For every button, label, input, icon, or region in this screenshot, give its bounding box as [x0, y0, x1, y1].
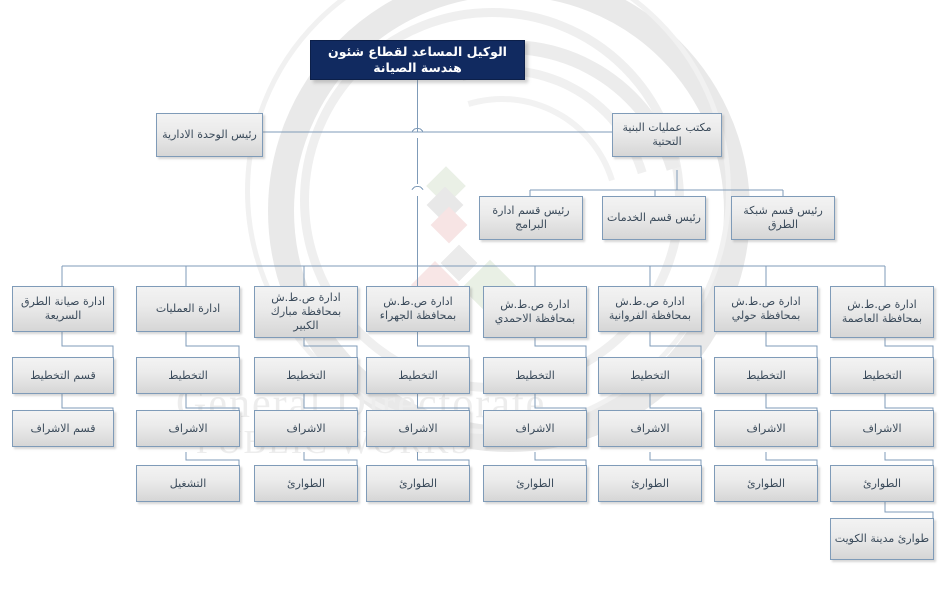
node-department-3-child-0[interactable]: التخطيط: [366, 357, 470, 394]
node-department-6-child-0[interactable]: التخطيط: [714, 357, 818, 394]
node-label: ادارة ص.ط.ش بمحافظة العاصمة: [834, 298, 930, 326]
node-label: ادارة ص.ط.ش بمحافظة الاحمدي: [487, 298, 583, 326]
node-department-5-child-1[interactable]: الاشراف: [598, 410, 702, 447]
node-department-4[interactable]: ادارة ص.ط.ش بمحافظة الاحمدي: [483, 286, 587, 338]
node-label: رئيس قسم ادارة البرامج: [483, 204, 579, 232]
node-department-1[interactable]: ادارة العمليات: [136, 286, 240, 332]
node-department-1-child-1[interactable]: الاشراف: [136, 410, 240, 447]
node-label: قسم التخطيط: [16, 369, 110, 383]
node-label: الاشراف: [602, 422, 698, 436]
node-department-4-child-1[interactable]: الاشراف: [483, 410, 587, 447]
node-label: الاشراف: [487, 422, 583, 436]
watermark-diamond: [426, 166, 466, 206]
node-label: رئيس قسم شبكة الطرق: [735, 204, 831, 232]
node-department-0-child-1[interactable]: قسم الاشراف: [12, 410, 114, 447]
node-department-1-child-0[interactable]: التخطيط: [136, 357, 240, 394]
node-label: التخطيط: [834, 369, 930, 383]
node-label: الاشراف: [140, 422, 236, 436]
node-department-7[interactable]: ادارة ص.ط.ش بمحافظة العاصمة: [830, 286, 934, 338]
node-label: التخطيط: [140, 369, 236, 383]
node-label: الطوارئ: [487, 477, 583, 491]
node-label: ادارة ص.ط.ش بمحافظة الفروانية: [602, 295, 698, 323]
node-label: الطوارئ: [718, 477, 814, 491]
node-department-4-child-2[interactable]: الطوارئ: [483, 465, 587, 502]
node-head-administrative-unit[interactable]: رئيس الوحدة الادارية: [156, 113, 263, 157]
node-label: الاشراف: [370, 422, 466, 436]
node-department-7-child-3[interactable]: طوارئ مدينة الكويت: [830, 518, 934, 560]
node-label: التخطيط: [487, 369, 583, 383]
node-label: الاشراف: [834, 422, 930, 436]
node-department-7-child-0[interactable]: التخطيط: [830, 357, 934, 394]
node-label: التخطيط: [370, 369, 466, 383]
node-label: رئيس الوحدة الادارية: [160, 128, 259, 142]
node-label: ادارة العمليات: [140, 302, 236, 316]
node-label: الطوارئ: [602, 477, 698, 491]
node-department-5-child-2[interactable]: الطوارئ: [598, 465, 702, 502]
node-department-6-child-1[interactable]: الاشراف: [714, 410, 818, 447]
node-department-1-child-2[interactable]: التشغيل: [136, 465, 240, 502]
node-label: طوارئ مدينة الكويت: [834, 532, 930, 546]
node-label: ادارة ص.ط.ش بمحافظة الجهراء: [370, 295, 466, 323]
node-label: التخطيط: [602, 369, 698, 383]
node-department-2[interactable]: ادارة ص.ط.ش بمحافظة مبارك الكبير: [254, 286, 358, 338]
watermark-diamond: [441, 245, 478, 282]
node-department-5-child-0[interactable]: التخطيط: [598, 357, 702, 394]
node-label: الطوارئ: [834, 477, 930, 491]
node-department-6[interactable]: ادارة ص.ط.ش بمحافظة حولي: [714, 286, 818, 332]
node-label: ادارة ص.ط.ش بمحافظة مبارك الكبير: [258, 291, 354, 332]
node-label: رئيس قسم الخدمات: [606, 211, 702, 225]
node-label: الاشراف: [718, 422, 814, 436]
node-label: التخطيط: [258, 369, 354, 383]
node-head-road-network-section[interactable]: رئيس قسم شبكة الطرق: [731, 196, 835, 240]
watermark-diamond: [427, 187, 464, 224]
node-department-3[interactable]: ادارة ص.ط.ش بمحافظة الجهراء: [366, 286, 470, 332]
node-department-5[interactable]: ادارة ص.ط.ش بمحافظة الفروانية: [598, 286, 702, 332]
node-label: الاشراف: [258, 422, 354, 436]
node-department-0-child-0[interactable]: قسم التخطيط: [12, 357, 114, 394]
node-department-2-child-1[interactable]: الاشراف: [254, 410, 358, 447]
node-label: الوكيل المساعد لقطاع شئون هندسة الصيانة: [314, 44, 521, 75]
node-label: قسم الاشراف: [16, 422, 110, 436]
node-department-6-child-2[interactable]: الطوارئ: [714, 465, 818, 502]
node-department-2-child-2[interactable]: الطوارئ: [254, 465, 358, 502]
node-label: التشغيل: [140, 477, 236, 491]
node-department-4-child-0[interactable]: التخطيط: [483, 357, 587, 394]
node-label: الطوارئ: [370, 477, 466, 491]
node-label: التخطيط: [718, 369, 814, 383]
node-department-3-child-1[interactable]: الاشراف: [366, 410, 470, 447]
org-chart: General Directorate PUBLIC WORKS: [0, 0, 945, 601]
node-department-2-child-0[interactable]: التخطيط: [254, 357, 358, 394]
node-head-programs-management-section[interactable]: رئيس قسم ادارة البرامج: [479, 196, 583, 240]
node-department-0[interactable]: ادارة صيانة الطرق السريعة: [12, 286, 114, 332]
node-label: الطوارئ: [258, 477, 354, 491]
node-root-assistant-undersecretary[interactable]: الوكيل المساعد لقطاع شئون هندسة الصيانة: [310, 40, 525, 80]
node-head-services-section[interactable]: رئيس قسم الخدمات: [602, 196, 706, 240]
node-label: مكتب عمليات البنية التحتية: [616, 121, 718, 149]
node-department-3-child-2[interactable]: الطوارئ: [366, 465, 470, 502]
watermark-diamond: [431, 207, 468, 244]
node-department-7-child-1[interactable]: الاشراف: [830, 410, 934, 447]
node-department-7-child-2[interactable]: الطوارئ: [830, 465, 934, 502]
node-label: ادارة ص.ط.ش بمحافظة حولي: [718, 295, 814, 323]
node-label: ادارة صيانة الطرق السريعة: [16, 295, 110, 323]
node-infrastructure-operations-office[interactable]: مكتب عمليات البنية التحتية: [612, 113, 722, 157]
